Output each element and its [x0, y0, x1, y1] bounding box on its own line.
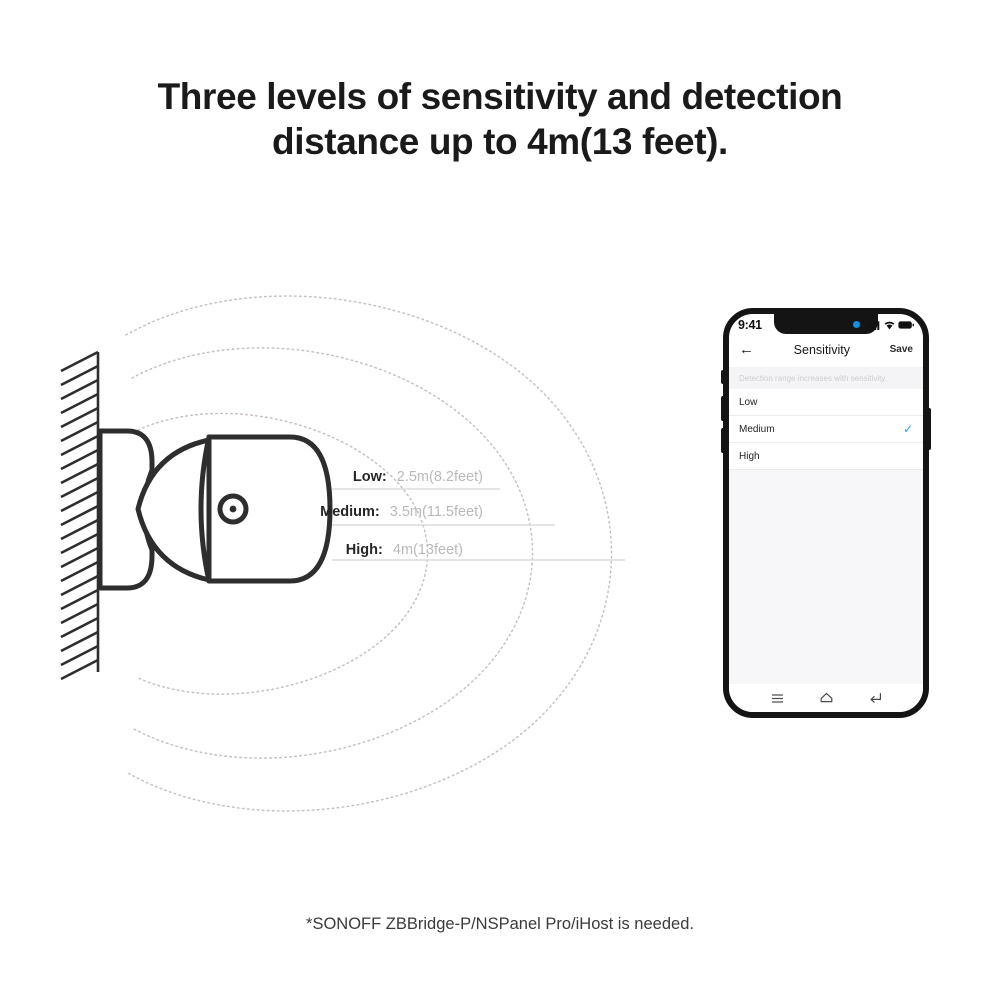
range-label-low-value: 2.5m(8.2feet)	[397, 469, 483, 485]
sensitivity-options-list: Low Medium ✓ High	[729, 389, 923, 470]
app-header-title: Sensitivity	[794, 343, 850, 357]
range-label-medium: Medium: 3.5m(11.5feet)	[238, 503, 483, 521]
sensitivity-option-high[interactable]: High	[729, 443, 923, 470]
detection-range-diagram	[0, 0, 700, 1000]
wall-hatching	[61, 352, 98, 679]
cellular-signal-icon	[868, 321, 881, 330]
range-label-medium-name: Medium:	[320, 504, 380, 520]
sensitivity-option-low-label: Low	[739, 397, 757, 408]
sensitivity-option-medium[interactable]: Medium ✓	[729, 416, 923, 443]
section-hint: Detection range increases with sensitivi…	[729, 367, 923, 389]
sensitivity-option-low[interactable]: Low	[729, 389, 923, 416]
phone-screen: 9:41	[729, 314, 923, 712]
android-navigation-bar	[729, 684, 923, 712]
phone-mockup: 9:41	[723, 308, 929, 718]
range-label-high: High: 4m(13feet)	[268, 541, 463, 559]
sensitivity-option-medium-label: Medium	[739, 424, 775, 435]
range-label-medium-value: 3.5m(11.5feet)	[390, 504, 483, 520]
battery-icon	[898, 321, 914, 329]
page-root: Three levels of sensitivity and detectio…	[0, 0, 1000, 1000]
back-arrow-icon[interactable]: ←	[739, 342, 754, 357]
check-icon: ✓	[903, 423, 913, 435]
home-icon[interactable]	[820, 692, 833, 704]
range-label-low-name: Low:	[353, 469, 387, 485]
back-icon[interactable]	[869, 692, 882, 704]
recents-icon[interactable]	[771, 693, 784, 704]
phone-frame: 9:41	[723, 308, 929, 718]
status-bar-icons	[868, 321, 914, 330]
app-header: ← Sensitivity Save	[729, 337, 923, 362]
status-bar-time: 9:41	[738, 318, 762, 332]
status-bar: 9:41	[729, 314, 923, 336]
sensitivity-option-high-label: High	[739, 451, 760, 462]
wifi-icon	[884, 321, 895, 330]
range-label-high-value: 4m(13feet)	[393, 542, 463, 558]
range-label-low: Low: 2.5m(8.2feet)	[268, 468, 483, 486]
save-button[interactable]: Save	[890, 344, 913, 355]
page-body-filler	[729, 470, 923, 684]
footnote: *SONOFF ZBBridge-P/NSPanel Pro/iHost is …	[0, 915, 1000, 934]
range-label-high-name: High:	[346, 542, 383, 558]
